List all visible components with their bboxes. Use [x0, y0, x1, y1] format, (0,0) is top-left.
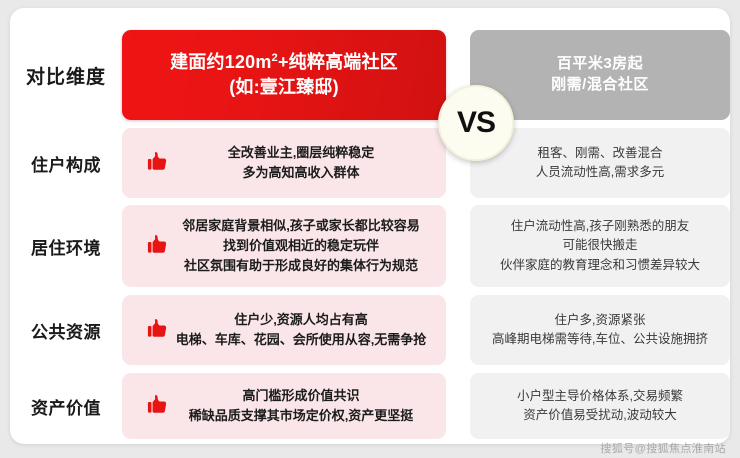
pro-header-line1-pre: 建面约120m — [170, 52, 271, 72]
comparison-infographic: 对比维度 建面约120m2+纯粹高端社区 (如:壹江臻邸) 百平米3房起 — [0, 0, 740, 458]
pro-header-line2: (如:壹江臻邸) — [229, 77, 339, 97]
con-text: 小户型主导价格体系,交易频繁 资产价值易受扰动,波动较大 — [470, 387, 730, 426]
pro-text: 邻居家庭背景相似,孩子或家长都比较容易 找到价值观相近的稳定玩伴 社区氛围有助于… — [122, 216, 446, 275]
pro-header-panel: 建面约120m2+纯粹高端社区 (如:壹江臻邸) — [122, 30, 446, 120]
vs-label: VS — [457, 106, 495, 140]
pro-text: 高门槛形成价值共识 稀缺品质支撑其市场定价权,资产更坚挺 — [122, 386, 446, 426]
row-label-cell: 住户构成 — [10, 128, 122, 198]
row-label-cell: 公共资源 — [10, 295, 122, 365]
con-text: 住户多,资源紧张 高峰期电梯需等待,车位、公共设施拥挤 — [470, 311, 730, 350]
thumbs-up-icon — [144, 233, 170, 259]
pro-text: 住户少,资源人均占有高 电梯、车库、花园、会所使用从容,无需争抢 — [122, 310, 446, 350]
pro-header-cell: 建面约120m2+纯粹高端社区 (如:壹江臻邸) — [122, 30, 458, 120]
header-row: 对比维度 建面约120m2+纯粹高端社区 (如:壹江臻邸) 百平米3房起 — [10, 30, 730, 120]
dimension-label: 对比维度 — [26, 62, 106, 89]
con-panel: 住户流动性高,孩子刚熟悉的朋友 可能很快搬走 伙伴家庭的教育理念和习惯差异较大 — [470, 205, 730, 287]
con-cell: 住户流动性高,孩子刚熟悉的朋友 可能很快搬走 伙伴家庭的教育理念和习惯差异较大 — [458, 205, 730, 287]
pro-panel: 高门槛形成价值共识 稀缺品质支撑其市场定价权,资产更坚挺 — [122, 373, 446, 439]
con-header-line2: 刚需/混合社区 — [551, 76, 649, 93]
row-label: 居住环境 — [31, 234, 101, 259]
con-header-line1: 百平米3房起 — [557, 55, 643, 72]
con-panel: 住户多,资源紧张 高峰期电梯需等待,车位、公共设施拥挤 — [470, 295, 730, 365]
table-row: 居住环境 邻居家庭背景相似,孩子或家长都比较容易 找到价值观相近的稳定玩伴 社区… — [10, 205, 730, 287]
pro-panel: 全改善业主,圈层纯粹稳定 多为高知高收入群体 — [122, 128, 446, 198]
con-text: 住户流动性高,孩子刚熟悉的朋友 可能很快搬走 伙伴家庭的教育理念和习惯差异较大 — [470, 217, 730, 275]
table-row: 公共资源 住户少,资源人均占有高 电梯、车库、花园、会所使用从容,无需争抢 住户… — [10, 295, 730, 365]
comparison-grid: 对比维度 建面约120m2+纯粹高端社区 (如:壹江臻邸) 百平米3房起 — [10, 8, 730, 444]
pro-cell: 全改善业主,圈层纯粹稳定 多为高知高收入群体 — [122, 128, 458, 198]
pro-header-text: 建面约120m2+纯粹高端社区 (如:壹江臻邸) — [170, 50, 398, 100]
pro-cell: 住户少,资源人均占有高 电梯、车库、花园、会所使用从容,无需争抢 — [122, 295, 458, 365]
pro-cell: 高门槛形成价值共识 稀缺品质支撑其市场定价权,资产更坚挺 — [122, 373, 458, 439]
row-label: 资产价值 — [31, 394, 101, 419]
row-label-cell: 资产价值 — [10, 373, 122, 439]
row-label-cell: 居住环境 — [10, 205, 122, 287]
pro-text: 全改善业主,圈层纯粹稳定 多为高知高收入群体 — [122, 143, 446, 183]
pro-panel: 邻居家庭背景相似,孩子或家长都比较容易 找到价值观相近的稳定玩伴 社区氛围有助于… — [122, 205, 446, 287]
con-cell: 小户型主导价格体系,交易频繁 资产价值易受扰动,波动较大 — [458, 373, 730, 439]
con-text: 租客、刚需、改善混合 人员流动性高,需求多元 — [470, 144, 730, 183]
row-label: 住户构成 — [31, 151, 101, 176]
pro-cell: 邻居家庭背景相似,孩子或家长都比较容易 找到价值观相近的稳定玩伴 社区氛围有助于… — [122, 205, 458, 287]
thumbs-up-icon — [144, 150, 170, 176]
pro-header-line1-post: +纯粹高端社区 — [278, 52, 398, 72]
table-row: 住户构成 全改善业主,圈层纯粹稳定 多为高知高收入群体 租客、刚需、改善混合 人… — [10, 128, 730, 198]
dimension-label-cell: 对比维度 — [10, 30, 122, 120]
pro-panel: 住户少,资源人均占有高 电梯、车库、花园、会所使用从容,无需争抢 — [122, 295, 446, 365]
vs-badge: VS — [438, 85, 514, 161]
con-header-text: 百平米3房起 刚需/混合社区 — [551, 54, 649, 95]
row-label: 公共资源 — [31, 318, 101, 343]
thumbs-up-icon — [144, 317, 170, 343]
comparison-card: 对比维度 建面约120m2+纯粹高端社区 (如:壹江臻邸) 百平米3房起 — [10, 8, 730, 444]
table-row: 资产价值 高门槛形成价值共识 稀缺品质支撑其市场定价权,资产更坚挺 小户型主导价… — [10, 373, 730, 439]
con-panel: 小户型主导价格体系,交易频繁 资产价值易受扰动,波动较大 — [470, 373, 730, 439]
watermark-text: 搜狐号@搜狐焦点淮南站 — [600, 440, 726, 456]
con-cell: 住户多,资源紧张 高峰期电梯需等待,车位、公共设施拥挤 — [458, 295, 730, 365]
thumbs-up-icon — [144, 393, 170, 419]
